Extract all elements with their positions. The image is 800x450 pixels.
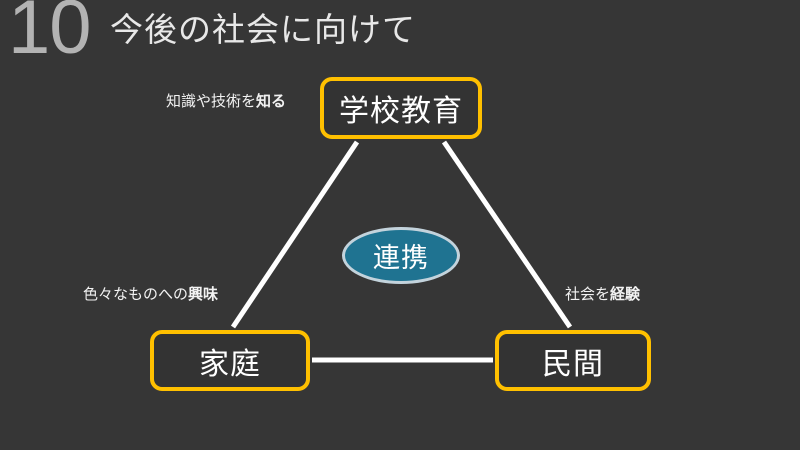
node-home[interactable]: 家庭 xyxy=(150,330,310,391)
node-private-sector-label: 民間 xyxy=(542,339,604,383)
edge-label-home: 色々なものへの興味 xyxy=(83,285,218,305)
edge-label-school-prefix: 知識や技術を xyxy=(166,93,256,110)
connector-school-private xyxy=(444,142,570,327)
slide-canvas: 10 今後の社会に向けて 学校教育 家庭 民間 連携 知識や技術を知る 色々なも… xyxy=(0,0,800,450)
edge-label-private-prefix: 社会を xyxy=(565,286,610,303)
diagram-connectors xyxy=(0,0,800,450)
node-private-sector[interactable]: 民間 xyxy=(495,330,651,391)
node-home-label: 家庭 xyxy=(199,339,261,383)
node-school-education[interactable]: 学校教育 xyxy=(320,77,482,139)
center-ellipse-cooperation[interactable]: 連携 xyxy=(342,227,460,284)
connector-school-home xyxy=(233,142,357,327)
edge-label-home-emphasis: 興味 xyxy=(188,286,218,303)
edge-label-school-education: 知識や技術を知る xyxy=(166,92,286,112)
edge-label-school-emphasis: 知る xyxy=(256,93,286,110)
center-ellipse-label: 連携 xyxy=(373,236,429,275)
node-school-education-label: 学校教育 xyxy=(339,86,463,130)
edge-label-private-emphasis: 経験 xyxy=(610,286,640,303)
edge-label-private-sector: 社会を経験 xyxy=(565,285,640,305)
edge-label-home-prefix: 色々なものへの xyxy=(83,286,188,303)
